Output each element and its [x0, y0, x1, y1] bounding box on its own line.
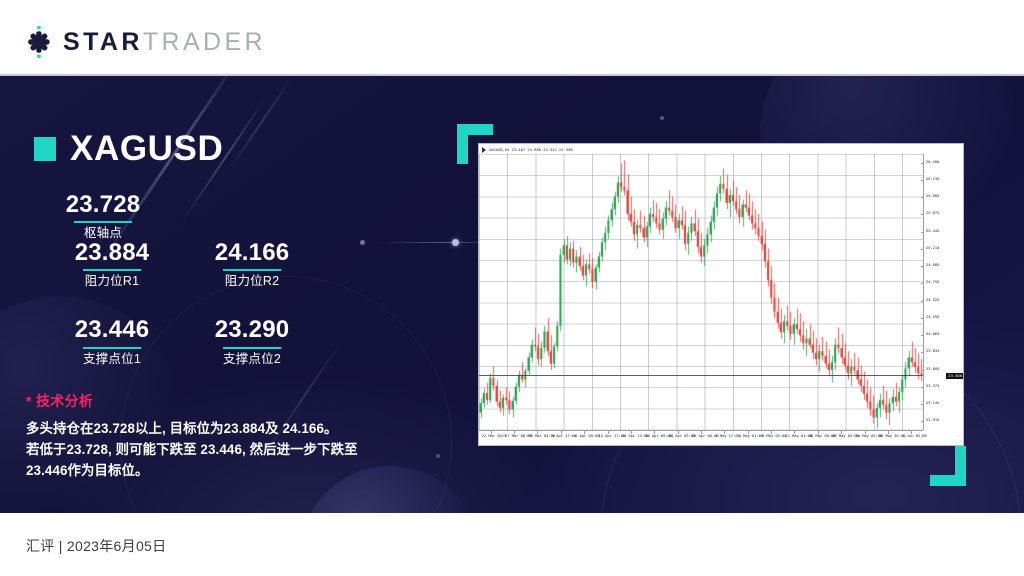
time-tick-label: 9 May 05:00 [762, 434, 786, 438]
price-tick-mark [921, 404, 924, 405]
footer-caption: 汇评 | 2023年6月05日 [26, 536, 166, 556]
s1-label: 支撑点位1 [42, 352, 182, 367]
price-tick-mark [921, 249, 924, 250]
time-tick-mark [701, 431, 702, 434]
price-tick-label: 25.215 [926, 247, 939, 251]
price-tick-label: 22.915 [926, 419, 939, 423]
time-tick-label: 6 Apr 09:00 [575, 434, 599, 438]
price-tick-mark [921, 163, 924, 164]
price-tick-mark [921, 214, 924, 215]
r2-stat: 24.166 阻力位R2 [182, 240, 322, 289]
levels-grid: 23.884 阻力位R1 24.166 阻力位R2 23.446 支撑点位1 [42, 240, 322, 395]
time-tick-mark [818, 431, 819, 434]
price-tick-label: 26.135 [926, 178, 939, 182]
time-tick-mark [654, 431, 655, 434]
decor-dot [436, 454, 440, 458]
price-tick-label: 23.375 [926, 385, 939, 389]
analysis-line-3: 23.446作为目标位。 [26, 460, 398, 481]
time-tick-label: 3 Apr 17:00 [552, 434, 576, 438]
star-asterisk-icon [24, 26, 54, 58]
r1-stat: 23.884 阻力位R1 [42, 240, 182, 289]
pivot-value: 23.728 [55, 192, 151, 218]
time-tick-mark [748, 431, 749, 434]
price-tick-label: 24.525 [926, 299, 939, 303]
price-tick-mark [921, 266, 924, 267]
s2-stat: 23.290 支撑点位2 [182, 317, 322, 366]
support-row: 23.446 支撑点位1 23.290 支撑点位2 [42, 317, 322, 394]
s1-stat: 23.446 支撑点位1 [42, 317, 182, 366]
chart-plot-area [479, 154, 923, 430]
price-tick-mark [921, 232, 924, 233]
price-tick-label: 23.145 [926, 402, 939, 406]
analysis-line-1: 多头持仓在23.728以上, 目标位为23.884及 24.166。 [26, 418, 398, 439]
decor-node [452, 239, 459, 246]
analysis-block: * 技术分析 多头持仓在23.728以上, 目标位为23.884及 24.166… [26, 391, 398, 482]
s1-value: 23.446 [42, 317, 182, 343]
s2-label: 支撑点位2 [182, 352, 322, 367]
price-tick-mark [921, 301, 924, 302]
time-tick-label: 22 Mar 2023 [482, 434, 506, 438]
time-tick-mark [865, 431, 866, 434]
r1-value: 23.884 [42, 240, 182, 266]
chart-title: XAGUSD,H4 23.487 23.680 23.422 23.500 [489, 148, 573, 152]
chart-header: XAGUSD,H4 23.487 23.680 23.422 23.500 [482, 146, 573, 154]
stat-underline [83, 347, 141, 349]
time-tick-mark [608, 431, 609, 434]
footer-bar: 汇评 | 2023年6月05日 [0, 513, 1024, 576]
price-tick-mark [921, 180, 924, 181]
price-tick-mark [921, 318, 924, 319]
s2-value: 23.290 [182, 317, 322, 343]
candlestick-canvas [479, 154, 923, 430]
decor-dot [360, 240, 365, 245]
price-tick-label: 24.755 [926, 281, 939, 285]
resistance-row: 23.884 阻力位R1 24.166 阻力位R2 [42, 240, 322, 317]
price-axis[interactable]: 26.20026.13525.90525.67525.44525.21524.9… [923, 154, 964, 430]
time-tick-label: 1 May 17:00 [715, 434, 739, 438]
poster-page: STARTRADER XAGUSD 23.7 [0, 0, 1024, 576]
time-tick-label: 4 May 01:00 [739, 434, 763, 438]
price-tick-mark [921, 387, 924, 388]
time-tick-mark [514, 431, 515, 434]
time-tick-mark [491, 431, 492, 434]
current-price-line [479, 375, 923, 376]
stat-underline [223, 269, 281, 271]
price-tick-mark [921, 335, 924, 336]
price-tick-label: 25.675 [926, 212, 939, 216]
decor-dot [660, 116, 664, 120]
brand-name-bold: STAR [63, 28, 143, 56]
price-tick-label: 24.065 [926, 333, 939, 337]
time-tick-mark [841, 431, 842, 434]
time-axis[interactable]: 22 Mar 202327 Mar 08:0030 Mar 04:003 Apr… [479, 430, 923, 446]
symbol-heading: XAGUSD [34, 131, 223, 166]
stat-underline [223, 347, 281, 349]
price-tick-label: 23.605 [926, 368, 939, 372]
time-tick-mark [561, 431, 562, 434]
price-tick-mark [921, 197, 924, 198]
price-chart[interactable]: XAGUSD,H4 23.487 23.680 23.422 23.500 26… [478, 143, 964, 446]
time-tick-mark [724, 431, 725, 434]
decor-streak [225, 76, 294, 176]
symbol-name: XAGUSD [70, 131, 223, 166]
time-tick-mark [537, 431, 538, 434]
price-tick-label: 25.905 [926, 195, 939, 199]
time-tick-mark [888, 431, 889, 434]
play-triangle-icon [482, 147, 486, 153]
price-tick-mark [921, 421, 924, 422]
time-tick-mark [911, 431, 912, 434]
time-tick-mark [678, 431, 679, 434]
chart-corner-bracket-br [930, 475, 966, 486]
chart-corner-bracket-tl [457, 124, 468, 164]
brand-wordmark: STARTRADER [63, 30, 266, 55]
time-tick-mark [584, 431, 585, 434]
time-tick-mark [771, 431, 772, 434]
time-tick-mark [631, 431, 632, 434]
price-tick-mark [921, 370, 924, 371]
r2-label: 阻力位R2 [182, 274, 322, 289]
time-tick-mark [794, 431, 795, 434]
price-tick-mark [921, 352, 924, 353]
pivot-stat: 23.728 枢轴点 [55, 192, 151, 241]
price-tick-label: 23.835 [926, 350, 939, 354]
header-bar: STARTRADER [0, 0, 1024, 76]
r1-label: 阻力位R1 [42, 274, 182, 289]
brand-name-light: TRADER [143, 28, 266, 56]
current-price-tag: 23.500 [946, 373, 964, 379]
price-tick-label: 24.985 [926, 264, 939, 268]
time-tick-label: 1 Jun 05:00 [902, 434, 926, 438]
r2-value: 24.166 [182, 240, 322, 266]
stat-underline [83, 269, 141, 271]
price-tick-label: 24.295 [926, 316, 939, 320]
main-dark-panel: XAGUSD 23.728 枢轴点 23.884 阻力位R1 24.166 阻力… [0, 76, 1024, 513]
stat-underline [74, 221, 132, 223]
price-tick-mark [921, 283, 924, 284]
brand-logo[interactable]: STARTRADER [24, 26, 266, 58]
analysis-title: * 技术分析 [26, 391, 398, 411]
price-tick-label: 26.200 [926, 161, 939, 165]
price-tick-label: 25.445 [926, 230, 939, 234]
analysis-line-2: 若低于23.728, 则可能下跌至 23.446, 然后进一步下跌至 [26, 439, 398, 460]
square-marker-icon [34, 137, 56, 161]
